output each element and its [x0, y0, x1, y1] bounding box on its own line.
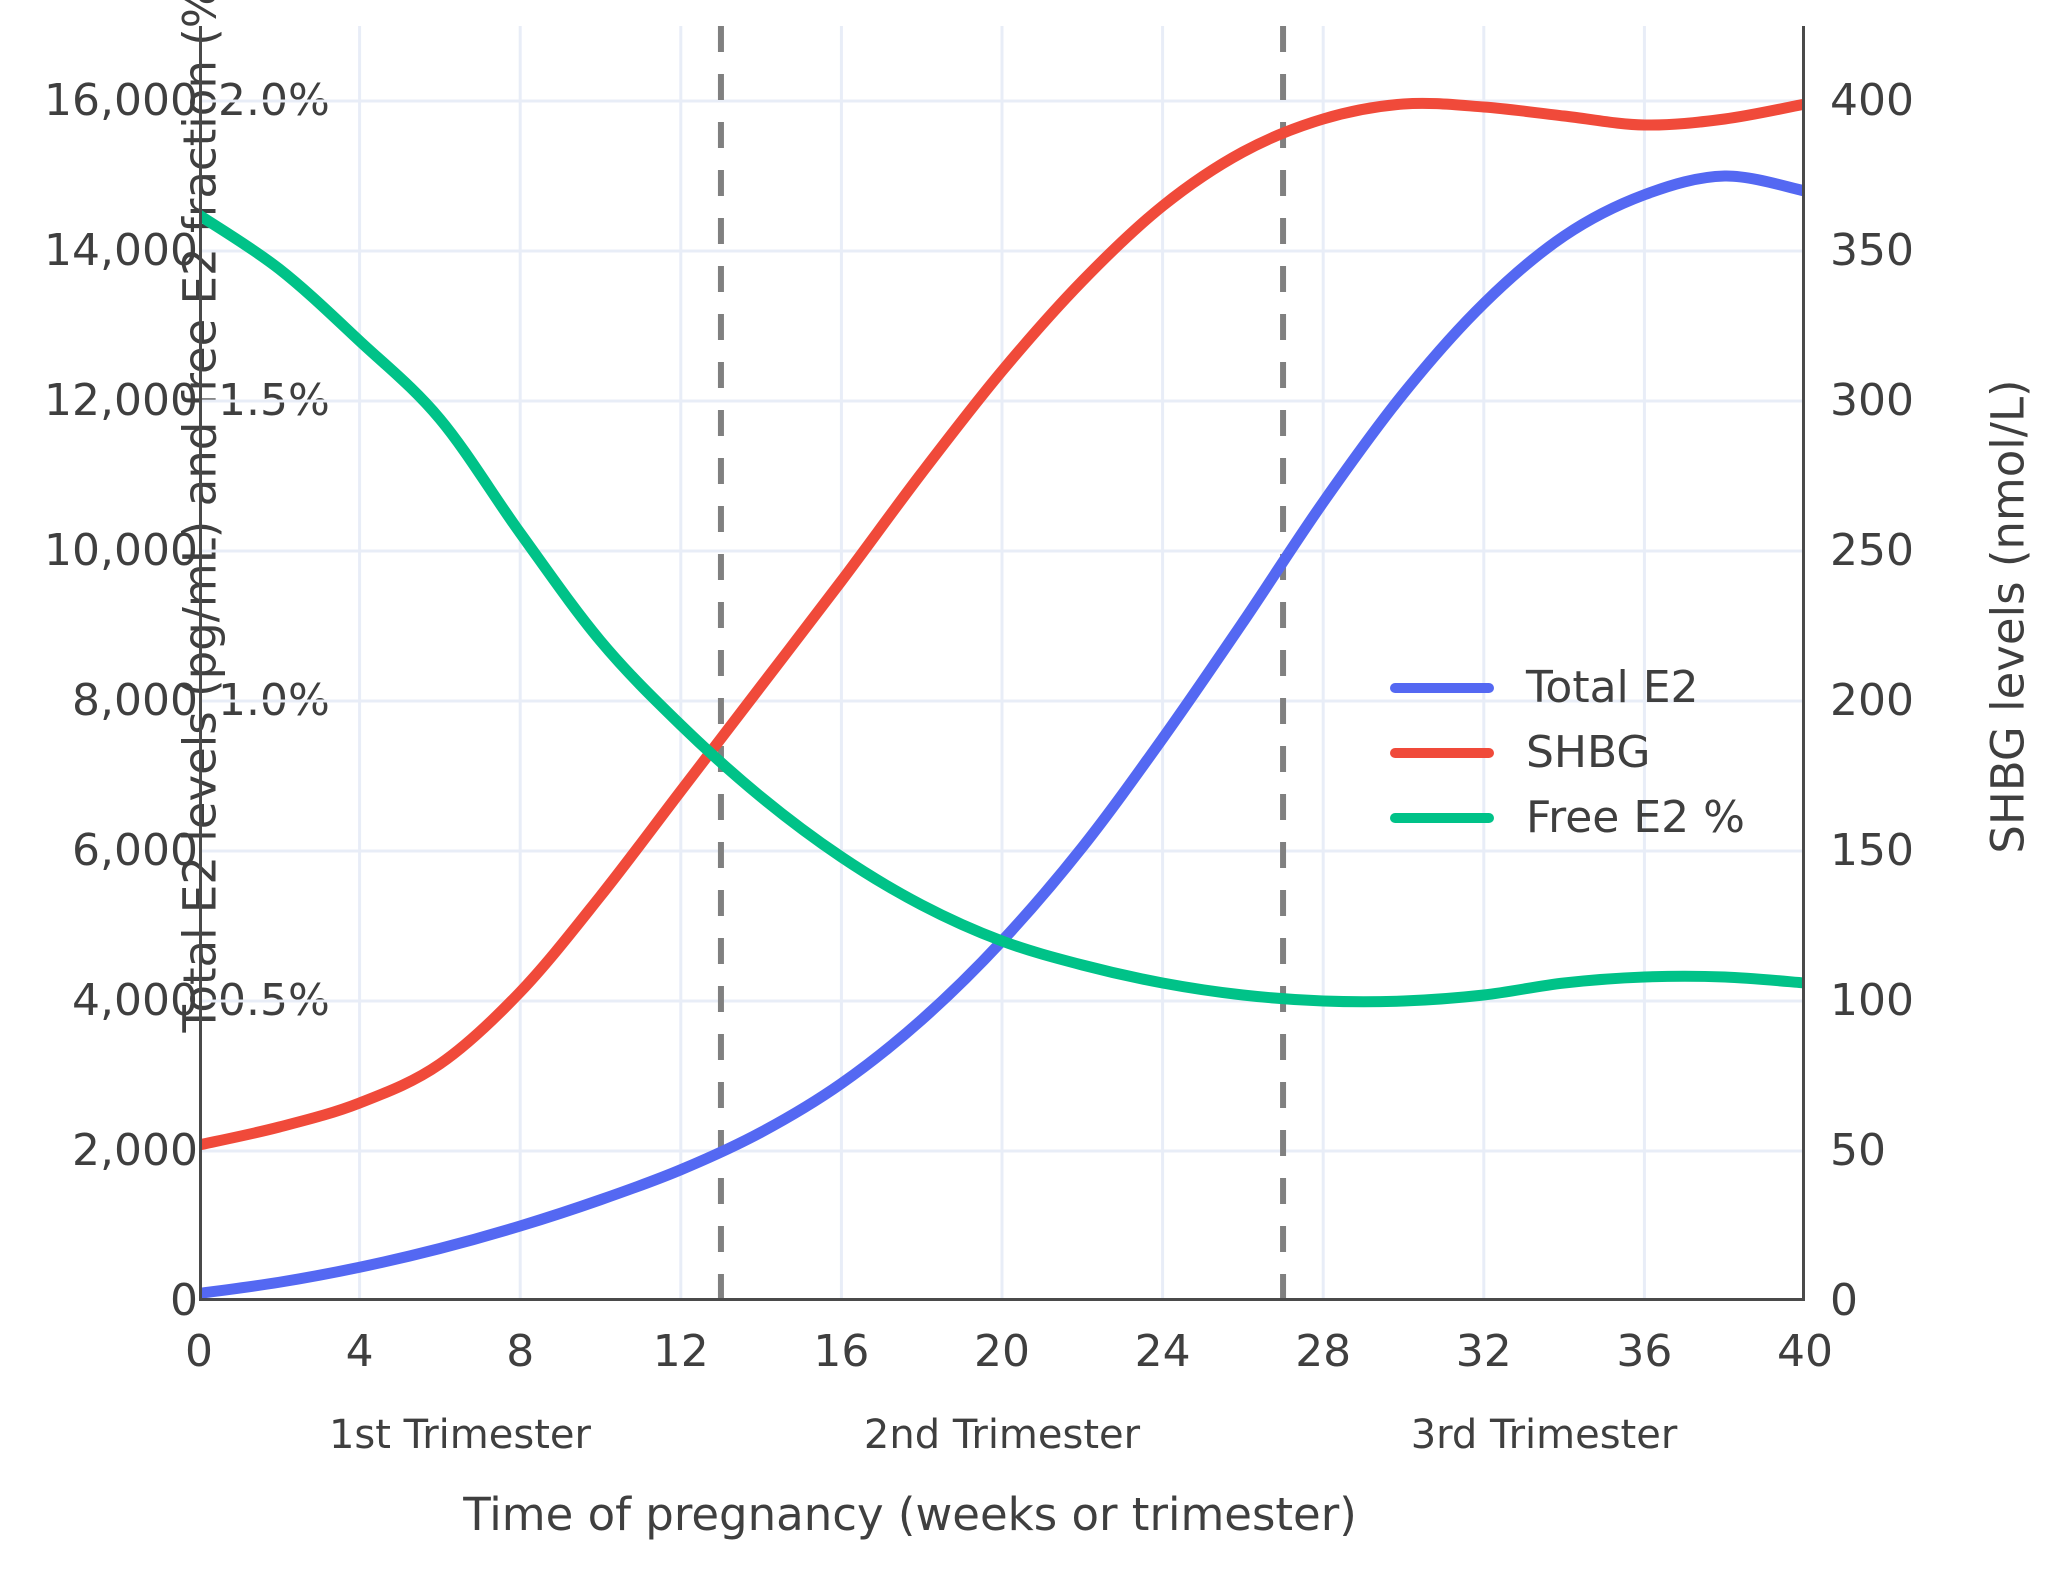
legend-item-label: SHBG: [1526, 731, 1651, 775]
trimester-label: 1st Trimester: [230, 1412, 690, 1458]
x-axis-tick-label: 0: [119, 1330, 279, 1374]
y-axis-left-tick-label: 16,000: [0, 79, 198, 123]
y-axis-right-tick-label: 50: [1830, 1129, 2030, 1173]
x-axis-tick-label: 20: [922, 1330, 1082, 1374]
y-axis-right-tick-label: 300: [1830, 379, 2030, 423]
y-axis-right-tick-label: 250: [1830, 529, 2030, 573]
y-axis-right-tick-label: 0: [1830, 1279, 2030, 1323]
chart-legend: Total E2SHBGFree E2 %: [1390, 655, 1810, 850]
y-axis-right-tick-label: 350: [1830, 229, 2030, 273]
y-axis-right-tick-label: 400: [1830, 79, 2030, 123]
legend-item[interactable]: Free E2 %: [1390, 785, 1810, 850]
chart-canvas: Total E2 levels (pg/mL) and free E2 frac…: [0, 0, 2048, 1582]
x-axis-tick-label: 28: [1243, 1330, 1403, 1374]
x-axis-tick-label: 40: [1725, 1330, 1885, 1374]
y-axis-left-tick-label: 14,000: [0, 229, 198, 273]
x-axis-tick-label: 16: [761, 1330, 921, 1374]
y-axis-right-tick-label: 150: [1830, 829, 2030, 873]
x-axis-tick-label: 36: [1564, 1330, 1724, 1374]
y-axis-left-tick-label: 0: [0, 1279, 198, 1323]
x-axis-ticks: 0481216202428323640: [0, 1330, 2048, 1400]
legend-item-label: Total E2: [1526, 666, 1699, 710]
x-axis-title: Time of pregnancy (weeks or trimester): [0, 1488, 1820, 1541]
y-axis-left-tick-label: 12,000: [0, 379, 198, 423]
x-axis-tick-label: 8: [440, 1330, 600, 1374]
legend-item[interactable]: SHBG: [1390, 720, 1810, 785]
y-axis-left-tick-label: 2,000: [0, 1129, 198, 1173]
trimester-label: 3rd Trimester: [1314, 1412, 1774, 1458]
legend-item-label: Free E2 %: [1526, 796, 1745, 840]
x-axis-tick-label: 32: [1404, 1330, 1564, 1374]
legend-color-swatch: [1390, 683, 1494, 693]
x-axis-tick-label: 12: [601, 1330, 761, 1374]
legend-item[interactable]: Total E2: [1390, 655, 1810, 720]
y-axis-left-tick-label: 10,000: [0, 529, 198, 573]
y-axis-left-tick-label: 6,000: [0, 829, 198, 873]
y-axis-left-tick-label: 8,000: [0, 679, 198, 723]
y-axis-left-tick-label: 4,000: [0, 979, 198, 1023]
x-axis-tick-label: 24: [1083, 1330, 1243, 1374]
x-axis-tick-label: 4: [280, 1330, 440, 1374]
legend-color-swatch: [1390, 813, 1494, 823]
y-axis-right-tick-label: 100: [1830, 979, 2030, 1023]
legend-color-swatch: [1390, 748, 1494, 758]
y-axis-right-tick-label: 200: [1830, 679, 2030, 723]
trimester-label: 2nd Trimester: [772, 1412, 1232, 1458]
